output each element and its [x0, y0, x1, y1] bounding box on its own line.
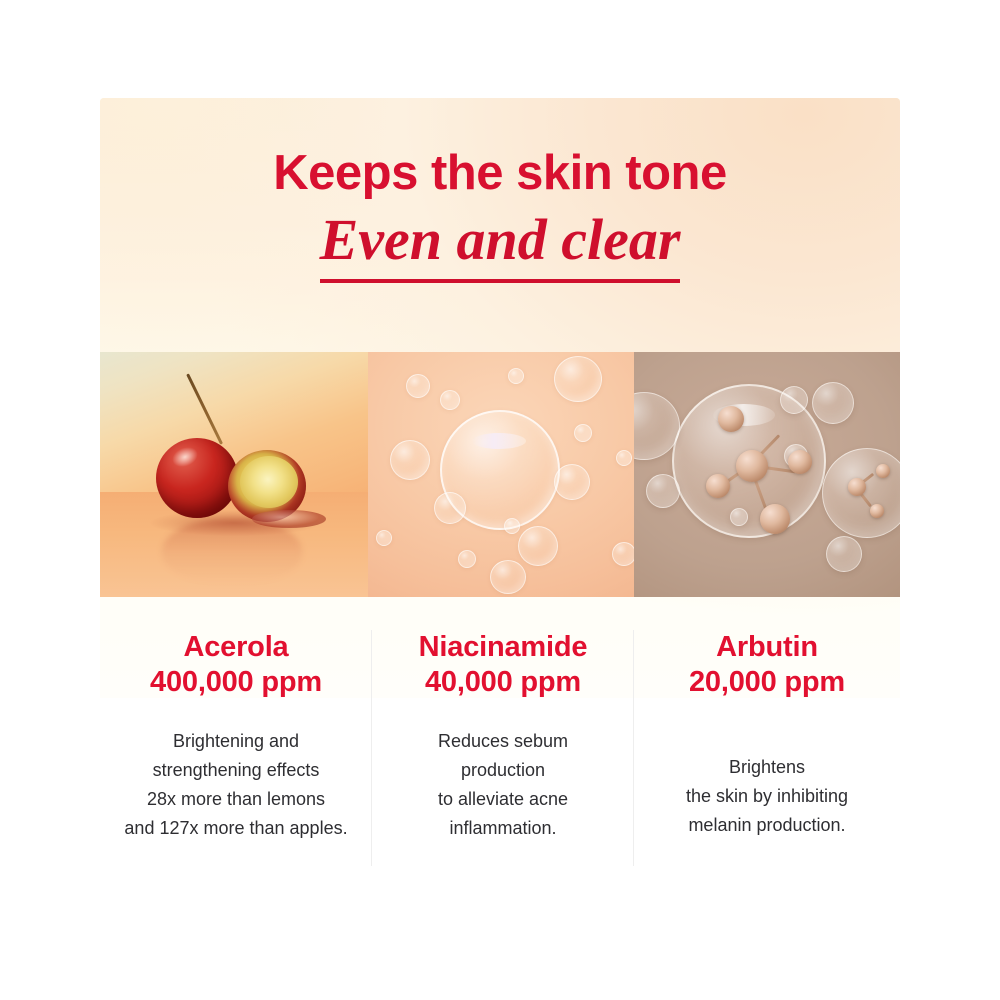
molecule-bubble-bottom-right: [826, 536, 862, 572]
molecule-bubble-top-2: [780, 386, 808, 414]
ingredient-column-niacinamide: Niacinamide 40,000 ppm Reduces sebum pro…: [372, 608, 634, 888]
bubble-small-6: [554, 464, 590, 500]
cherry-flesh: [240, 456, 298, 508]
bubble-small-8: [434, 492, 466, 524]
description-line: Brightens: [644, 753, 890, 782]
bubble-small-2: [406, 374, 430, 398]
bubble-small-4: [508, 368, 524, 384]
bubble-small-12: [504, 518, 520, 534]
molecule-atom-r-center: [848, 478, 866, 496]
arbutin-molecule-photo: [634, 352, 900, 597]
cherry-juice-droplet: [252, 510, 326, 528]
molecule-atom-left: [706, 474, 730, 498]
cherry-whole: [156, 438, 238, 518]
ingredient-amount: 400,000 ppm: [110, 665, 362, 700]
ingredient-description: Brightens the skin by inhibiting melanin…: [644, 753, 890, 840]
ingredient-amount: 40,000 ppm: [382, 665, 624, 700]
ingredient-name: Arbutin: [644, 630, 890, 665]
headline-underline-wrapper: Even and clear: [320, 211, 681, 283]
molecule-bubble-top-1: [812, 382, 854, 424]
infographic-card: Keeps the skin tone Even and clear: [100, 98, 900, 900]
ingredient-column-arbutin: Arbutin 20,000 ppm Brightens the skin by…: [634, 608, 900, 888]
description-line: 28x more than lemons: [110, 785, 362, 814]
molecule-bubble-tiny-1: [730, 508, 748, 526]
acerola-cherry-photo: [100, 352, 368, 597]
molecule-bubble-bottom-left: [646, 474, 680, 508]
molecule-atom-r-bottom: [870, 504, 884, 518]
bubble-small-15: [376, 530, 392, 546]
molecule-atom-r-top: [876, 464, 890, 478]
headline-line-2: Even and clear: [320, 211, 681, 269]
ingredient-image-strip: [100, 352, 900, 597]
headline-line-1: Keeps the skin tone: [100, 148, 900, 199]
headline-block: Keeps the skin tone Even and clear: [100, 148, 900, 283]
ingredient-amount: 20,000 ppm: [644, 665, 890, 700]
bubble-small-13: [612, 542, 634, 566]
description-line: melanin production.: [644, 811, 890, 840]
ingredient-column-acerola: Acerola 400,000 ppm Brightening and stre…: [100, 608, 372, 888]
description-line: to alleviate acne: [382, 785, 624, 814]
ingredient-description: Brightening and strengthening effects 28…: [110, 727, 362, 844]
molecule-atom-top: [718, 406, 744, 432]
bubble-small-1: [390, 440, 430, 480]
description-line: Reduces sebum: [382, 727, 624, 756]
ingredient-name: Acerola: [110, 630, 362, 665]
description-line: the skin by inhibiting: [644, 782, 890, 811]
ingredient-columns: Acerola 400,000 ppm Brightening and stre…: [100, 608, 900, 888]
bubble-small-7: [574, 424, 592, 442]
description-line: inflammation.: [382, 814, 624, 843]
description-line: and 127x more than apples.: [110, 814, 362, 843]
bubble-small-9: [518, 526, 558, 566]
bubble-small-10: [490, 560, 526, 594]
ingredient-name: Niacinamide: [382, 630, 624, 665]
description-line: strengthening effects: [110, 756, 362, 785]
product-infographic: Keeps the skin tone Even and clear: [0, 0, 1000, 1000]
molecule-atom-bottom: [760, 504, 790, 534]
bubble-small-14: [616, 450, 632, 466]
bubble-small-3: [440, 390, 460, 410]
niacinamide-bubbles-photo: [368, 352, 634, 597]
description-line: Brightening and: [110, 727, 362, 756]
description-line: production: [382, 756, 624, 785]
molecule-atom-center: [736, 450, 768, 482]
molecule-atom-right: [788, 450, 812, 474]
bubble-small-11: [458, 550, 476, 568]
ingredient-description: Reduces sebum production to alleviate ac…: [382, 727, 624, 844]
bubble-small-5: [554, 356, 602, 402]
